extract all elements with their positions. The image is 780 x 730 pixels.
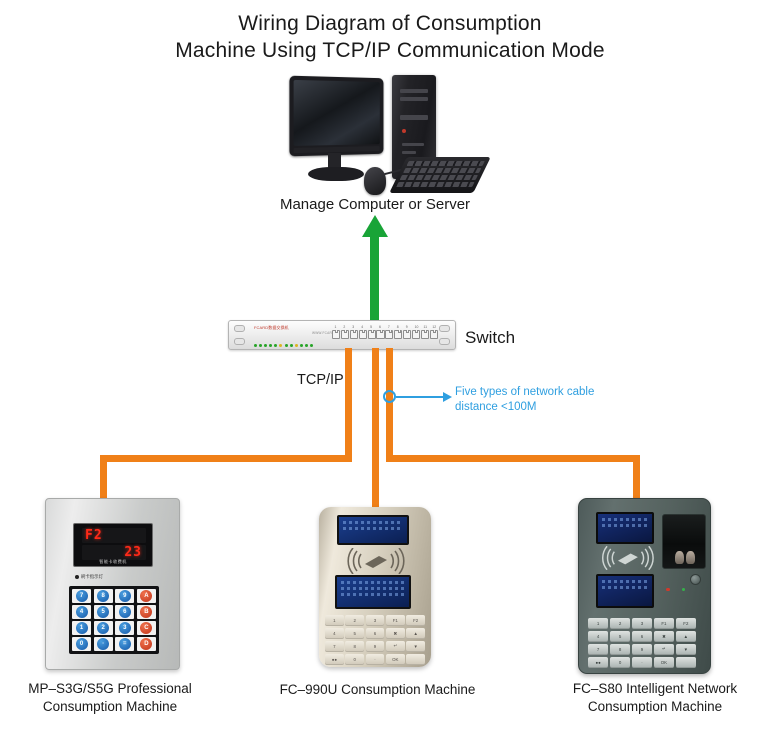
switch-label: Switch [465,328,515,348]
switch-port[interactable] [332,330,340,340]
title-line-2: Machine Using TCP/IP Communication Mode [0,37,780,64]
display-glyphs [602,580,648,602]
tower-vent [400,97,428,101]
device-3-caption-line-2: Consumption Machine [540,698,770,716]
keypad-key[interactable]: 8 [610,644,630,655]
tower-drive-bay [400,115,428,120]
indicator-label: 刷卡指示灯 [81,574,103,579]
keypad-key[interactable]: 5 [345,628,364,639]
rfid-icon [343,548,407,574]
switch-port-bank: 123456789101112 [332,325,444,345]
switch-port[interactable] [394,330,402,340]
switch-port[interactable] [421,330,429,340]
keypad-key[interactable]: 2 [94,621,113,635]
fingerprint-scanner-icon[interactable] [662,514,706,569]
keypad-key[interactable]: 1 [325,615,344,626]
keypad-key[interactable]: 7 [588,644,608,655]
device-2-caption-line-1: FC–990U Consumption Machine [265,681,490,699]
switch-brand-label: FCARD数据交换机 [254,325,289,331]
display-line [602,580,648,583]
switch-rack-ear [234,325,245,332]
device-2-display-top [337,515,409,545]
switch-led [305,344,308,347]
keypad-key[interactable]: 6 [115,605,134,619]
keypad-key[interactable]: 3 [632,618,652,629]
switch-port-number: 12 [432,325,436,329]
device-1-caption: MP–S3G/S5G Professional Consumption Mach… [10,680,210,716]
annotation-marker [383,390,396,403]
keypad-key[interactable]: = [115,637,134,651]
switch-port[interactable] [350,330,358,340]
switch-port-number: 7 [388,325,390,329]
fingerprint-pad [686,551,695,564]
computer-caption: Manage Computer or Server [215,196,535,213]
switch-port[interactable] [430,330,438,340]
keypad-key[interactable]: ✖ [386,628,405,639]
keypad-key[interactable]: · [94,637,113,651]
page-title: Wiring Diagram of Consumption Machine Us… [0,10,780,64]
diagram-canvas: Wiring Diagram of Consumption Machine Us… [0,0,780,730]
keypad-key-label: = [119,638,131,650]
monitor-stand-base [308,167,364,181]
keypad-key[interactable]: · [632,657,652,668]
keypad-key[interactable]: 9 [632,644,652,655]
keypad-key[interactable]: B [137,605,156,619]
display-line [343,527,403,530]
downlink-cable-right [386,348,393,462]
keypad-key[interactable]: · [366,654,385,665]
keypad-key[interactable]: F1 [386,615,405,626]
keypad-key[interactable]: F2 [676,618,696,629]
display-line [341,593,405,596]
keypad-key[interactable]: ▼ [676,644,696,655]
monitor-screen [294,80,380,146]
device-3-keypad[interactable]: 123F1F2456✖▲789↵▼●●0·OK [588,618,696,668]
device-3-display-bottom [596,574,654,608]
keypad-key-label: 2 [97,622,109,634]
switch-port[interactable] [403,330,411,340]
switch-port[interactable] [359,330,367,340]
tower-vent [400,89,428,93]
keypad-key[interactable]: ↵ [386,641,405,652]
keyboard-keys [395,161,485,189]
keyboard-row [403,168,481,173]
keyboard-row [396,182,474,187]
keypad-key[interactable]: F1 [654,618,674,629]
switch-rack-ear [234,338,245,345]
keypad-key[interactable]: OK [654,657,674,668]
annotation-leader-line [396,396,444,398]
keypad-key-label: C [140,622,152,634]
keypad-key-label: 3 [119,622,131,634]
keypad-key[interactable]: 4 [588,631,608,642]
switch-led [300,344,303,347]
switch-led [295,344,298,347]
downlink-bus-left [100,455,352,462]
keypad-key[interactable]: C [137,621,156,635]
uplink-arrow-head [362,215,388,237]
device-3-display-top [596,512,654,544]
display-value-bottom: 23 [124,545,142,560]
fingerprint-pad [675,551,684,564]
desktop-computer-icon [280,75,480,195]
switch-port[interactable] [368,330,376,340]
device-1-caption-line-1: MP–S3G/S5G Professional [10,680,210,698]
display-row-bottom: 23 [82,545,146,560]
switch-port-number: 3 [352,325,354,329]
keypad-key-label: 0 [76,638,88,650]
keypad-key[interactable]: ●● [325,654,344,665]
display-caption-cn: 智能卡收费机 [74,559,152,565]
switch-led [285,344,288,347]
display-glyphs [602,518,648,538]
switch-port-number: 5 [370,325,372,329]
switch-port[interactable] [412,330,420,340]
keyboard-row [406,161,484,166]
title-line-1: Wiring Diagram of Consumption [238,12,541,35]
keypad-key[interactable]: 9 [115,589,134,603]
keypad-key[interactable] [406,654,425,665]
switch-port-number: 6 [379,325,381,329]
keyboard-icon [389,157,491,193]
keypad-key[interactable]: 6 [632,631,652,642]
tcpip-label: TCP/IP [297,372,344,388]
keypad-key[interactable]: ▼ [406,641,425,652]
display-line [602,586,648,589]
keypad-key[interactable]: ▲ [676,631,696,642]
keypad-key[interactable]: ✖ [654,631,674,642]
switch-port-number: 10 [415,325,419,329]
switch-port-number: 8 [397,325,399,329]
uplink-cable [370,236,379,322]
device-fc-990u: 123F1F2456✖▲789↵▼●●0·OK [313,503,437,671]
keypad-key-label: 4 [76,606,88,618]
device-1-caption-line-2: Consumption Machine [10,698,210,716]
switch-port[interactable] [341,330,349,340]
downlink-cable-left [345,348,352,462]
keypad-key[interactable]: 8 [345,641,364,652]
device-3-status-leds [666,578,685,596]
device-3-caption-line-1: FC–S80 Intelligent Network [540,680,770,698]
device-1-indicator: 刷卡指示灯 [75,574,103,580]
switch-led [254,344,257,347]
device-1-display: F2 23 智能卡收费机 [73,523,153,567]
keypad-key-label: 8 [97,590,109,602]
keypad-key-label: · [97,638,109,650]
switch-port-number: 4 [361,325,363,329]
device-2-caption: FC–990U Consumption Machine [265,681,490,699]
downlink-bus-right [386,455,640,462]
keypad-key[interactable]: F2 [406,615,425,626]
keypad-key[interactable]: 5 [610,631,630,642]
keypad-key[interactable]: ●● [588,657,608,668]
keypad-key[interactable]: ▲ [406,628,425,639]
tower-power-led [402,129,406,133]
switch-port-number: 2 [343,325,345,329]
keypad-key[interactable]: ↵ [654,644,674,655]
switch-led [290,344,293,347]
display-line [602,524,648,527]
switch-port-number: 1 [335,325,337,329]
function-button[interactable] [690,574,701,585]
power-led [666,588,670,592]
keypad-key[interactable]: 0 [610,657,630,668]
network-switch: FCARD数据交换机 WWW.FCARD.NET 123456789101112 [228,320,456,350]
switch-port[interactable] [385,330,393,340]
annotation-text: Five types of network cable distance <10… [455,385,605,415]
switch-port[interactable] [376,330,384,340]
display-glyphs [341,581,405,603]
display-line [602,518,648,521]
switch-led-strip [254,334,320,341]
keyboard-row [400,175,478,180]
keypad-key-label: D [140,638,152,650]
keypad-key[interactable]: 2 [610,618,630,629]
downlink-drop-device-2 [372,348,379,510]
keypad-key[interactable]: 7 [72,589,91,603]
device-mp-s3g: F2 23 智能卡收费机 刷卡指示灯 789A456B123C0·=D [45,498,180,670]
display-glyphs [343,521,403,539]
keypad-key-label: 6 [119,606,131,618]
keypad-key[interactable]: 1 [72,621,91,635]
keypad-key[interactable]: 4 [325,628,344,639]
device-2-display-bottom [335,575,411,609]
keypad-key[interactable]: 8 [94,589,113,603]
display-line [341,581,405,584]
keypad-key[interactable]: 4 [72,605,91,619]
keypad-key[interactable]: 9 [366,641,385,652]
display-value-top: F2 [85,528,103,543]
keypad-key-label: B [140,606,152,618]
keypad-key-label: 5 [97,606,109,618]
status-led [682,588,686,592]
device-fc-s80: 123F1F2456✖▲789↵▼●●0·OK [578,498,711,674]
keypad-key-label: 1 [76,622,88,634]
keypad-key[interactable]: 3 [366,615,385,626]
keypad-key-label: 7 [76,590,88,602]
keypad-key[interactable]: 5 [94,605,113,619]
keypad-key[interactable] [676,657,696,668]
annotation-arrow-head [443,392,452,402]
keypad-key[interactable]: 3 [115,621,134,635]
keypad-key-label: A [140,590,152,602]
keypad-key[interactable]: 0 [72,637,91,651]
keypad-key[interactable]: OK [386,654,405,665]
display-line [343,521,403,524]
indicator-led [75,575,79,579]
keypad-key-label: 9 [119,590,131,602]
tower-port [402,151,416,154]
monitor-icon [289,76,383,157]
keypad-key[interactable]: 7 [325,641,344,652]
keypad-key[interactable]: A [137,589,156,603]
display-row-top: F2 [82,528,146,543]
switch-port-number: 11 [424,325,428,329]
rfid-icon [598,546,656,570]
device-3-caption: FC–S80 Intelligent Network Consumption M… [540,680,770,716]
switch-ports [332,330,438,340]
keypad-key[interactable]: 1 [588,618,608,629]
keypad-key[interactable]: D [137,637,156,651]
display-line [341,587,405,590]
mouse-icon [364,167,386,195]
switch-port-number: 9 [406,325,408,329]
keypad-key[interactable]: 0 [345,654,364,665]
tower-port [402,143,424,146]
device-2-keypad[interactable]: 123F1F2456✖▲789↵▼●●0·OK [325,615,425,665]
keypad-key[interactable]: 6 [366,628,385,639]
keypad-key[interactable]: 2 [345,615,364,626]
device-1-keypad[interactable]: 789A456B123C0·=D [69,586,159,654]
